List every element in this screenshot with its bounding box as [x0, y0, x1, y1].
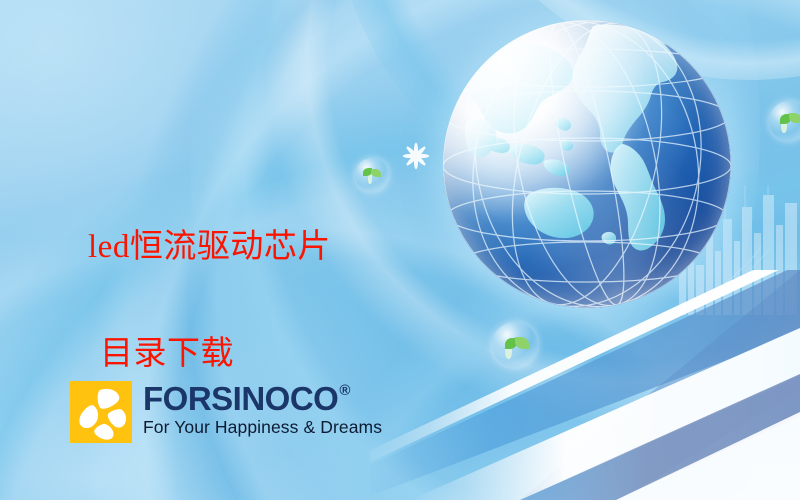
globe-grid-lines [443, 20, 731, 308]
company-logo: FORSINOCO ® For Your Happiness & Dreams [70, 381, 382, 443]
page-title-line-1: led恒流驱动芯片 [88, 221, 418, 274]
banner-canvas: led恒流驱动芯片 目录下载 FORSINOCO ® For Your Happ… [0, 0, 800, 500]
logo-wordmark-text: FORSINOCO [143, 382, 338, 415]
logo-text-block: FORSINOCO ® For Your Happiness & Dreams [143, 381, 382, 437]
page-title-line-2: 目录下载 [88, 328, 418, 381]
earth-globe [443, 20, 731, 308]
registered-trademark-icon: ® [339, 383, 350, 398]
bubble-green-leaf-edge [769, 101, 800, 141]
logo-wordmark: FORSINOCO ® [143, 382, 382, 415]
bubble-green-leaf-large [492, 322, 538, 368]
four-petal-flower-icon [70, 381, 132, 443]
logo-tagline: For Your Happiness & Dreams [143, 419, 382, 437]
